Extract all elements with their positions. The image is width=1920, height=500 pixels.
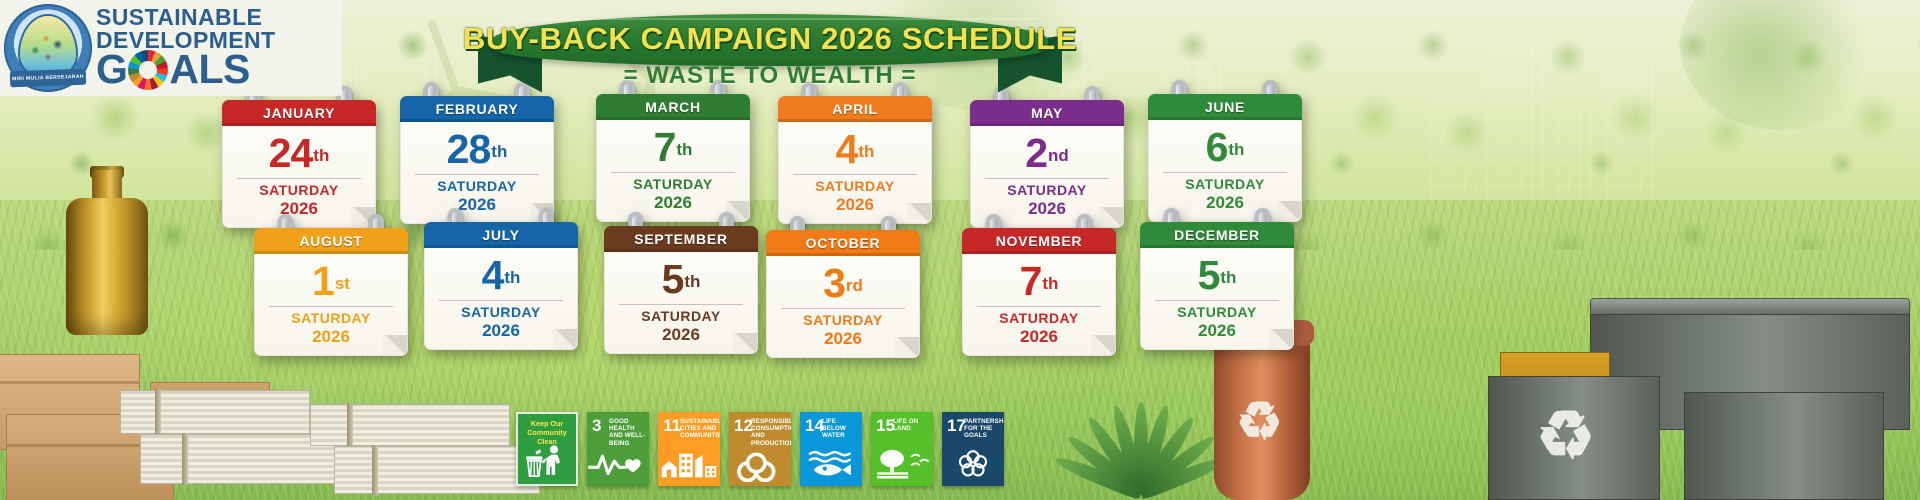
person-binning-litter-icon [518, 440, 576, 482]
miri-city-council-seal-icon: MIRI MULIA BERSEJARAH MAJLIS BANDARAYA M… [4, 4, 92, 92]
calendar-day-number: 2 [1025, 130, 1047, 176]
calendar-body: 5thSATURDAY2026 [604, 252, 758, 354]
calendar-day-suffix: nd [1048, 146, 1069, 165]
calendar-day-of-week: SATURDAY [607, 176, 739, 193]
calendar-divider [1163, 172, 1287, 173]
calendar-day-suffix: th [684, 272, 700, 291]
calendar-day-number: 6 [1206, 124, 1228, 170]
calendar-divider [793, 174, 917, 175]
calendar-card-april[interactable]: APRIL4thSATURDAY2026 [778, 96, 932, 224]
ribbon-banner: BUY-BACK CAMPAIGN 2026 SCHEDULE [492, 14, 1048, 66]
calendar-divider [985, 178, 1109, 179]
calendar-divider [415, 174, 539, 175]
calendar-body: 6thSATURDAY2026 [1148, 120, 1302, 222]
calendar-body: 3rdSATURDAY2026 [766, 256, 920, 358]
calendar-body: 4thSATURDAY2026 [778, 122, 932, 224]
calendar-divider [237, 178, 361, 179]
calendar-divider [269, 306, 393, 307]
calendar-day-of-week: SATURDAY [1151, 304, 1283, 321]
calendar-month-label: JUNE [1205, 99, 1245, 115]
calendar-day-wrap: 28th [411, 127, 543, 174]
calendar-header: JANUARY [222, 100, 376, 126]
calendar-divider [619, 304, 743, 305]
calendar-year: 2026 [777, 329, 909, 349]
calendar-day-of-week: SATURDAY [435, 304, 567, 321]
calendar-day-suffix: th [1228, 140, 1244, 159]
sdg-title: LIFE BELOW WATER [822, 418, 859, 440]
calendar-day-number: 28 [447, 126, 491, 172]
calendar-divider [439, 300, 563, 301]
heartbeat-icon [587, 444, 649, 482]
calendar-day-number: 1 [312, 258, 334, 304]
calendar-day-wrap: 4th [435, 253, 567, 300]
calendar-header: OCTOBER [766, 230, 920, 256]
calendar-day-wrap: 7th [973, 259, 1105, 306]
calendar-day-of-week: SATURDAY [233, 182, 365, 199]
calendar-day-suffix: th [313, 146, 329, 165]
calendar-day-number: 7 [1020, 258, 1042, 304]
calendar-month-label: NOVEMBER [996, 233, 1083, 249]
calendar-year: 2026 [265, 327, 397, 347]
calendar-day-number: 5 [1198, 252, 1220, 298]
sdg-tile-12[interactable]: 12RESPONSIBLE CONSUMPTION AND PRODUCTION [729, 412, 791, 486]
calendar-day-number: 7 [654, 124, 676, 170]
calendar-day-of-week: SATURDAY [973, 310, 1105, 327]
calendar-card-december[interactable]: DECEMBER5thSATURDAY2026 [1140, 222, 1294, 350]
calendar-header: SEPTEMBER [604, 226, 758, 252]
calendar-body: 7thSATURDAY2026 [962, 254, 1116, 356]
sdg-number: 11 [663, 417, 681, 434]
calendar-day-number: 24 [269, 130, 313, 176]
sdg-logo-line1: SUSTAINABLE [96, 6, 275, 28]
sdg-logo: SUSTAINABLE DEVELOPMENT G ALS [96, 6, 275, 89]
sdg-title: RESPONSIBLE CONSUMPTION AND PRODUCTION [751, 418, 788, 447]
sdg-title: GOOD HEALTH AND WELL-BEING [609, 418, 646, 447]
sdg-tile-3[interactable]: 3GOOD HEALTH AND WELL-BEING [587, 412, 649, 486]
calendar-day-number: 5 [662, 256, 684, 302]
calendar-card-july[interactable]: JULY4thSATURDAY2026 [424, 222, 578, 350]
calendar-year: 2026 [615, 325, 747, 345]
sdg-logo-g: G [96, 50, 127, 89]
calendar-header: MAY [970, 100, 1124, 126]
calendar-month-label: FEBRUARY [436, 101, 519, 117]
sdg-tile-17[interactable]: 17PARTNERSHIPS FOR THE GOALS [942, 412, 1004, 486]
banner-subtitle: = WASTE TO WEALTH = [470, 62, 1070, 90]
calendar-divider [611, 172, 735, 173]
calendar-card-june[interactable]: JUNE6thSATURDAY2026 [1148, 94, 1302, 222]
calendar-month-label: OCTOBER [806, 235, 881, 251]
sdg-icon-strip: Keep Our Community Clean3GOOD HEALTH AND… [516, 412, 1004, 486]
sdg-title: PARTNERSHIPS FOR THE GOALS [964, 418, 1001, 440]
calendar-day-wrap: 7th [607, 125, 739, 172]
calendar-card-november[interactable]: NOVEMBER7thSATURDAY2026 [962, 228, 1116, 356]
metal-recycling-bin-right-icon [1684, 392, 1884, 500]
calendar-day-suffix: rd [846, 276, 863, 295]
calendar-header: NOVEMBER [962, 228, 1116, 254]
calendar-month-label: MARCH [645, 99, 701, 115]
calendar-header: AUGUST [254, 228, 408, 254]
campaign-banner: BUY-BACK CAMPAIGN 2026 SCHEDULE = WASTE … [470, 4, 1070, 100]
calendar-day-wrap: 3rd [777, 261, 909, 308]
calendar-month-label: DECEMBER [1174, 227, 1260, 243]
calendar-day-of-week: SATURDAY [981, 182, 1113, 199]
recycle-symbol-icon: ♻ [1536, 402, 1595, 468]
calendar-body: 2ndSATURDAY2026 [970, 126, 1124, 228]
calendar-day-number: 3 [823, 260, 845, 306]
city-buildings-icon [658, 444, 720, 482]
calendar-day-suffix: th [858, 142, 874, 161]
sdg-logo-als: ALS [169, 50, 250, 89]
calendar-day-wrap: 24th [233, 131, 365, 178]
calendar-year: 2026 [789, 195, 921, 215]
calendar-divider [1155, 300, 1279, 301]
interlocking-circles-icon [942, 444, 1004, 482]
sdg-logo-goals-row: G ALS [96, 50, 275, 90]
calendar-month-label: JANUARY [263, 105, 335, 121]
calendar-year: 2026 [973, 327, 1105, 347]
calendar-month-label: JULY [482, 227, 519, 243]
calendar-day-suffix: th [676, 140, 692, 159]
calendar-header: JUNE [1148, 94, 1302, 120]
calendar-day-of-week: SATURDAY [1159, 176, 1291, 193]
metal-recycling-bin-front-icon: ♻ [1488, 376, 1660, 500]
calendar-card-january[interactable]: JANUARY24thSATURDAY2026 [222, 100, 376, 228]
calendar-day-wrap: 4th [789, 127, 921, 174]
calendar-day-number: 4 [482, 252, 504, 298]
calendar-day-wrap: 5th [615, 257, 747, 304]
calendar-year: 2026 [607, 193, 739, 213]
calendar-month-label: MAY [1031, 105, 1063, 121]
calendar-month-label: APRIL [832, 101, 878, 117]
newspaper-bundles-icon [120, 380, 540, 500]
calendar-divider [781, 308, 905, 309]
calendar-body: 4thSATURDAY2026 [424, 248, 578, 350]
sdg-title: LIFE ON LAND [893, 418, 930, 432]
calendar-day-suffix: st [335, 274, 350, 293]
calendar-day-of-week: SATURDAY [615, 308, 747, 325]
tree-birds-icon [871, 444, 933, 482]
calendar-day-suffix: th [1220, 268, 1236, 287]
calendar-day-wrap: 5th [1151, 253, 1283, 300]
calendar-day-of-week: SATURDAY [265, 310, 397, 327]
calendar-header: DECEMBER [1140, 222, 1294, 248]
calendar-day-suffix: th [491, 142, 507, 161]
calendar-card-october[interactable]: OCTOBER3rdSATURDAY2026 [766, 230, 920, 358]
calendar-card-march[interactable]: MARCH7thSATURDAY2026 [596, 94, 750, 222]
calendar-day-of-week: SATURDAY [777, 312, 909, 329]
sdg-tile-keep-community-clean[interactable]: Keep Our Community Clean [516, 412, 578, 486]
calendar-day-wrap: 6th [1159, 125, 1291, 172]
amber-glass-bottle-icon [66, 170, 148, 335]
sdg-tile-11[interactable]: 11SUSTAINABLE CITIES AND COMMUNITIES [658, 412, 720, 486]
calendar-day-of-week: SATURDAY [411, 178, 543, 195]
sdg-title: SUSTAINABLE CITIES AND COMMUNITIES [680, 418, 717, 440]
calendar-year: 2026 [435, 321, 567, 341]
calendar-body: 24thSATURDAY2026 [222, 126, 376, 228]
header-logo-panel: MIRI MULIA BERSEJARAH MAJLIS BANDARAYA M… [0, 0, 342, 96]
banner-title: BUY-BACK CAMPAIGN 2026 SCHEDULE [463, 21, 1077, 57]
sdg-color-wheel-icon [128, 50, 168, 90]
calendar-year: 2026 [1151, 321, 1283, 341]
sdg-number: 3 [592, 417, 601, 434]
sdg-tile-15[interactable]: 15LIFE ON LAND [871, 412, 933, 486]
calendar-header: JULY [424, 222, 578, 248]
calendar-day-wrap: 2nd [981, 131, 1113, 178]
infinity-loop-icon [729, 444, 791, 482]
calendar-card-may[interactable]: MAY2ndSATURDAY2026 [970, 100, 1124, 228]
calendar-card-february[interactable]: FEBRUARY28thSATURDAY2026 [400, 96, 554, 224]
fish-waves-icon [800, 444, 862, 482]
calendar-day-suffix: th [504, 268, 520, 287]
calendar-month-label: AUGUST [299, 233, 362, 249]
calendar-day-suffix: th [1042, 274, 1058, 293]
calendar-day-number: 4 [836, 126, 858, 172]
recycle-symbol-icon: ♻ [1236, 396, 1283, 448]
calendar-day-wrap: 1st [265, 259, 397, 306]
calendar-card-september[interactable]: SEPTEMBER5thSATURDAY2026 [604, 226, 758, 354]
calendar-divider [977, 306, 1101, 307]
seal-ribbon-text: MIRI MULIA BERSEJARAH [10, 69, 87, 88]
calendar-card-august[interactable]: AUGUST1stSATURDAY2026 [254, 228, 408, 356]
calendar-body: 5thSATURDAY2026 [1140, 248, 1294, 350]
calendar-body: 1stSATURDAY2026 [254, 254, 408, 356]
sdg-tile-14[interactable]: 14LIFE BELOW WATER [800, 412, 862, 486]
calendar-day-of-week: SATURDAY [789, 178, 921, 195]
calendar-body: 7thSATURDAY2026 [596, 120, 750, 222]
calendar-month-label: SEPTEMBER [634, 231, 727, 247]
